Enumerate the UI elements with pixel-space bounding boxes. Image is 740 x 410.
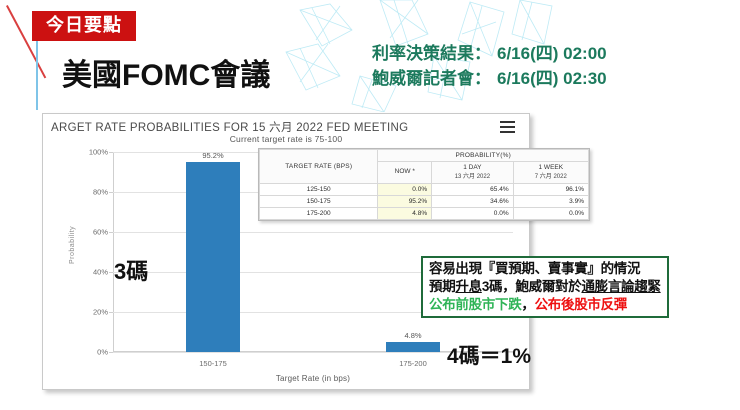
table-cell-rate: 125-150 [260,183,378,195]
schedule-row-press-conference: 鮑威爾記者會： 6/16(四) 02:30 [372,67,607,92]
chart-y-tick-label: 0% [97,348,108,357]
callout-l2-b: 升息 [455,279,481,294]
table-cell-rate: 150-175 [260,195,378,207]
topic-badge: 今日要點 [32,11,136,41]
table-row: 125-1500.0%65.4%96.1% [260,183,589,195]
chart-bar[interactable]: 95.2% [186,162,240,352]
schedule-value-press-conference: 6/16(四) 02:30 [497,67,607,92]
callout-l3-sep: ， [521,297,534,312]
table-header-col-2: 1 DAY13 六月 2022 [432,162,513,184]
table-cell-1day: 0.0% [432,207,513,219]
chart-y-tick-mark [109,152,113,153]
callout-line-1: 容易出現『買預期、賣事實』的情況 [429,260,661,278]
callout-line-3: 公布前股市下跌，公布後股市反彈 [429,296,661,314]
decor-blue-vertical [36,40,38,110]
chart-y-tick-label: 40% [93,268,108,277]
chart-y-tick-label: 60% [93,228,108,237]
schedule-block: 利率決策結果： 6/16(四) 02:00 鮑威爾記者會： 6/16(四) 02… [372,42,607,91]
chart-y-tick-mark [109,352,113,353]
callout-l3-red: 公布後股市反彈 [535,297,627,312]
schedule-row-rate-decision: 利率決策結果： 6/16(四) 02:00 [372,42,607,67]
annotation-four-notch: 4碼＝1% [447,340,531,370]
table-row: 150-17595.2%34.6%3.9% [260,195,589,207]
schedule-value-rate-decision: 6/16(四) 02:00 [497,42,607,67]
callout-l2-e: 通膨言論趨緊 [581,279,660,294]
chart-bar[interactable]: 4.8% [386,342,440,352]
table-header-probability-group: PROBABILITY(%) [378,150,589,162]
callout-l2-c: 3碼 [482,279,502,294]
chart-y-tick-mark [109,272,113,273]
slide-root: 今日要點 美國FOMC會議 利率決策結果： 6/16(四) 02:00 鮑威爾記… [0,0,740,410]
chart-y-axis-label: Probability [69,226,76,264]
chart-bar-value-label: 4.8% [404,331,421,340]
table-cell-1day: 65.4% [432,183,513,195]
callout-line-2: 預期升息3碼，鮑威爾對於通膨言論趨緊 [429,278,661,296]
table-cell-rate: 175-200 [260,207,378,219]
chart-y-tick-mark [109,232,113,233]
chart-gridline [113,232,513,233]
table-cell-1day: 34.6% [432,195,513,207]
annotation-three-notch: 3碼 [114,254,148,286]
table-cell-1week: 0.0% [513,207,588,219]
schedule-label-rate-decision: 利率決策結果： [372,42,491,67]
chart-y-tick-mark [109,192,113,193]
y-axis-line [113,152,114,352]
chart-subtitle: Current target rate is 75-100 [43,134,529,144]
callout-l2-a: 預期 [429,279,455,294]
table-header-col-3: 1 WEEK7 六月 2022 [513,162,588,184]
chart-y-tick-label: 100% [89,148,108,157]
probability-table: TARGET RATE (BPS) PROBABILITY(%) NOW *1 … [258,148,590,221]
chart-x-tick-label: 150-175 [199,359,227,368]
table-cell-now: 0.0% [378,183,432,195]
table-cell-now: 95.2% [378,195,432,207]
schedule-label-press-conference: 鮑威爾記者會： [372,67,491,92]
chart-x-axis-label: Target Rate (in bps) [113,374,513,383]
page-title: 美國FOMC會議 [62,50,270,94]
chart-y-tick-label: 20% [93,308,108,317]
table-header-target-rate: TARGET RATE (BPS) [260,150,378,184]
chart-title: ARGET RATE PROBABILITIES FOR 15 六月 2022 … [51,119,408,135]
chart-y-tick-mark [109,312,113,313]
callout-l2-d: ，鮑威爾對於 [502,279,581,294]
callout-box: 容易出現『買預期、賣事實』的情況 預期升息3碼，鮑威爾對於通膨言論趨緊 公布前股… [421,256,669,318]
table-cell-1week: 96.1% [513,183,588,195]
hamburger-menu-icon[interactable] [500,121,515,133]
table-header-col-1: NOW * [378,162,432,184]
table-cell-1week: 3.9% [513,195,588,207]
chart-bar-value-label: 95.2% [202,151,223,160]
table-row: 175-2004.8%0.0%0.0% [260,207,589,219]
callout-l3-green: 公布前股市下跌 [429,297,521,312]
chart-y-tick-label: 80% [93,188,108,197]
chart-x-tick-label: 175-200 [399,359,427,368]
table-cell-now: 4.8% [378,207,432,219]
